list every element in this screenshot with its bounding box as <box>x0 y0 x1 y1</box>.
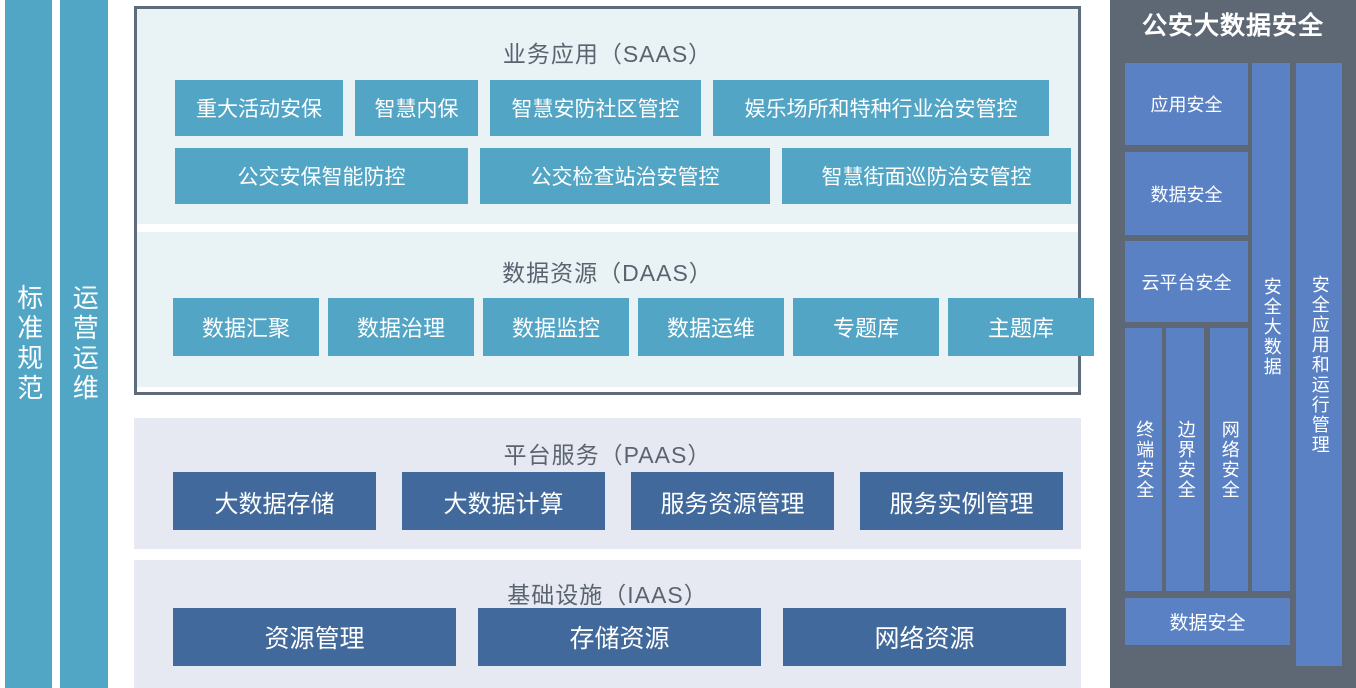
iaas-item-network-resource[interactable]: 网络资源 <box>783 608 1066 666</box>
iaas-item-resource-management[interactable]: 资源管理 <box>173 608 456 666</box>
saas-item-smart-internal-security[interactable]: 智慧内保 <box>355 80 478 136</box>
sidebar-bar-operation-maintenance[interactable]: 运营运维 <box>60 0 108 688</box>
sidebar-bar-standard-specification[interactable]: 标准规范 <box>5 0 52 688</box>
paas-item-service-instance-management[interactable]: 服务实例管理 <box>860 472 1063 530</box>
paas-item-bigdata-computing[interactable]: 大数据计算 <box>402 472 605 530</box>
security-item-bottom-data-security[interactable]: 数据安全 <box>1125 598 1290 645</box>
saas-item-smart-street-patrol-control[interactable]: 智慧街面巡防治安管控 <box>782 148 1071 204</box>
paas-row: 大数据存储 大数据计算 服务资源管理 服务实例管理 <box>173 472 1063 530</box>
layer-daas: 数据资源（DAAS） 数据汇聚 数据治理 数据监控 数据运维 专题库 主题库 <box>137 232 1078 387</box>
paas-item-service-resource-management[interactable]: 服务资源管理 <box>631 472 834 530</box>
layer-paas-title: 平台服务（PAAS） <box>134 418 1081 470</box>
paas-item-bigdata-storage[interactable]: 大数据存储 <box>173 472 376 530</box>
daas-item-thematic-library[interactable]: 专题库 <box>793 298 939 356</box>
saas-item-bus-security-smart-control[interactable]: 公交安保智能防控 <box>175 148 468 204</box>
layer-saas-title: 业务应用（SAAS） <box>137 9 1078 69</box>
security-item-cloud-platform-security[interactable]: 云平台安全 <box>1125 241 1248 322</box>
iaas-item-storage-resource[interactable]: 存储资源 <box>478 608 761 666</box>
security-panel: 公安大数据安全 应用安全 数据安全 云平台安全 终端安全 边界安全 网络安全 安… <box>1110 0 1356 688</box>
layer-stack: 业务应用（SAAS） 重大活动安保 智慧内保 智慧安防社区管控 娱乐场所和特种行… <box>124 0 1102 688</box>
security-item-boundary-security[interactable]: 边界安全 <box>1166 328 1204 591</box>
security-item-data-security[interactable]: 数据安全 <box>1125 152 1248 235</box>
layer-paas: 平台服务（PAAS） 大数据存储 大数据计算 服务资源管理 服务实例管理 <box>134 418 1081 549</box>
daas-item-data-aggregation[interactable]: 数据汇聚 <box>173 298 319 356</box>
layer-daas-title: 数据资源（DAAS） <box>137 232 1078 288</box>
security-panel-title: 公安大数据安全 <box>1110 6 1356 42</box>
sidebar-bar-standard-specification-label: 标准规范 <box>12 284 45 404</box>
saas-item-bus-checkpoint-control[interactable]: 公交检查站治安管控 <box>480 148 770 204</box>
daas-item-data-monitoring[interactable]: 数据监控 <box>483 298 629 356</box>
security-item-security-application-and-operation-management[interactable]: 安全应用和运行管理 <box>1296 63 1342 666</box>
daas-item-subject-library[interactable]: 主题库 <box>948 298 1094 356</box>
daas-item-data-operations[interactable]: 数据运维 <box>638 298 784 356</box>
layer-iaas-title: 基础设施（IAAS） <box>134 560 1081 610</box>
security-item-application-security[interactable]: 应用安全 <box>1125 63 1248 145</box>
daas-item-data-governance[interactable]: 数据治理 <box>328 298 474 356</box>
sidebar-bar-operation-maintenance-label: 运营运维 <box>68 284 101 404</box>
iaas-row: 资源管理 存储资源 网络资源 <box>173 608 1066 666</box>
saas-row-1: 重大活动安保 智慧内保 智慧安防社区管控 娱乐场所和特种行业治安管控 <box>175 80 1049 136</box>
security-item-terminal-security[interactable]: 终端安全 <box>1125 328 1162 591</box>
saas-item-smart-community-control[interactable]: 智慧安防社区管控 <box>490 80 701 136</box>
layer-saas: 业务应用（SAAS） 重大活动安保 智慧内保 智慧安防社区管控 娱乐场所和特种行… <box>137 9 1078 224</box>
security-item-network-security[interactable]: 网络安全 <box>1210 328 1248 591</box>
saas-row-2: 公交安保智能防控 公交检查站治安管控 智慧街面巡防治安管控 <box>175 148 1071 204</box>
security-item-security-bigdata[interactable]: 安全大数据 <box>1252 63 1290 591</box>
layer-iaas: 基础设施（IAAS） 资源管理 存储资源 网络资源 <box>134 560 1081 688</box>
saas-item-major-event-security[interactable]: 重大活动安保 <box>175 80 343 136</box>
daas-row: 数据汇聚 数据治理 数据监控 数据运维 专题库 主题库 <box>173 298 1094 356</box>
saas-item-entertainment-special-industry-control[interactable]: 娱乐场所和特种行业治安管控 <box>713 80 1049 136</box>
architecture-diagram: 标准规范 运营运维 业务应用（SAAS） 重大活动安保 智慧内保 智慧安防社区管… <box>0 0 1356 688</box>
